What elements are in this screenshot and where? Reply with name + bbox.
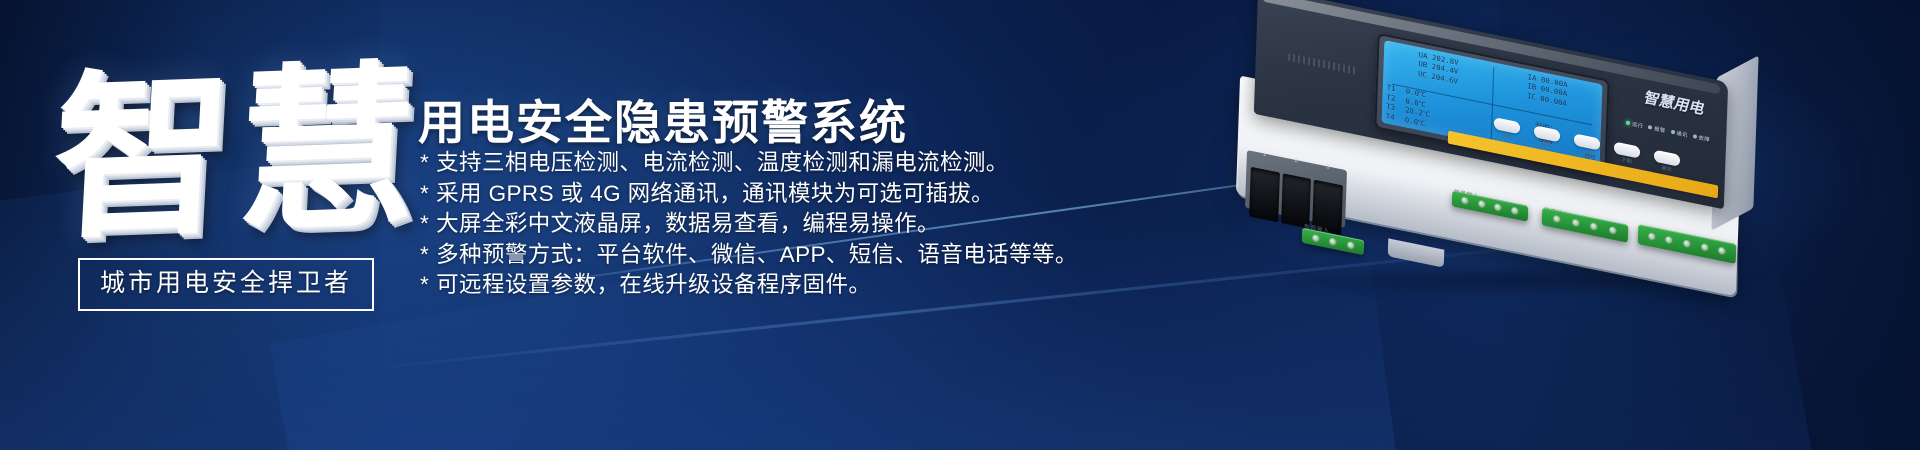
terminal-screw-icon <box>1511 206 1519 216</box>
terminal-label-signal-a: 信号输入 <box>1454 187 1480 200</box>
list-item-text: 多种预警方式：平台软件、微信、APP、短信、语音电话等等。 <box>436 242 1078 267</box>
list-item: *可远程设置参数，在线升级设备程序固件。 <box>420 270 1120 301</box>
lcd-signal-indicator: 信号 <box>1585 153 1596 165</box>
green-terminal-signal-b[interactable] <box>1542 207 1629 242</box>
list-item: *大屏全彩中文液晶屏，数据易查看，编程易操作。 <box>420 209 1120 240</box>
green-terminal-signal-a[interactable] <box>1452 190 1529 221</box>
lcd-temperature-label: T4 <box>1386 111 1398 123</box>
terminal-screw-icon <box>1718 246 1726 256</box>
device-status-indicators: 运行 报警 通讯 故障 <box>1610 112 1726 150</box>
product-image: UA 202.8V UB 204.4V UC 204.6V IA 00.00A … <box>1118 8 1918 338</box>
device-front-panel <box>1236 76 1740 297</box>
device-button-up[interactable]: 上翻 <box>1574 133 1600 150</box>
lcd-current-row: IA 00.00A <box>1497 66 1598 96</box>
device-glow <box>1208 32 1868 312</box>
device-button-confirm[interactable]: 确定 <box>1654 150 1680 167</box>
lcd-voltage-value: 204.4V <box>1432 62 1459 76</box>
din-rail-clip <box>1388 238 1445 267</box>
device-top-highlight <box>1262 0 1720 95</box>
list-item: *多种预警方式：平台软件、微信、APP、短信、语音电话等等。 <box>420 240 1120 271</box>
device-button-row: 切换 复位 上翻 下翻 确定 <box>1456 101 1719 182</box>
din-rail-monitor-device: UA 202.8V UB 204.4V UC 204.6V IA 00.00A … <box>1118 8 1918 338</box>
promo-banner: 智慧 城市用电安全捍卫者 用电安全隐患预警系统 *支持三相电压检测、电流检测、温… <box>0 0 1920 450</box>
terminal-pin <box>1312 180 1342 235</box>
feature-list: *支持三相电压检测、电流检测、温度检测和漏电流检测。 *采用 GPRS 或 4G… <box>420 148 1120 301</box>
terminal-screw-icon <box>1494 203 1502 213</box>
lcd-temperature-row: T3 28.2℃ <box>1386 102 1487 132</box>
terminal-label-comm: 通讯接口 <box>1640 223 1666 236</box>
background-right-shade <box>1500 0 1920 450</box>
lcd-current-label: IC <box>1527 91 1536 102</box>
device-brand-label: 智慧用电 <box>1629 83 1716 130</box>
lcd-leakage-panel: 漏电： 0mA 信号 <box>1491 101 1602 166</box>
black-terminal-numbers: 1 2 3 <box>1250 149 1343 184</box>
lcd-temperature-row: T2 0.0℃ <box>1386 92 1487 122</box>
green-terminal-comm[interactable] <box>1638 224 1737 264</box>
terminal-screw-icon <box>1590 222 1598 232</box>
lcd-voltage-panel: UA 202.8V UB 204.4V UC 204.6V <box>1383 40 1493 101</box>
terminal-screw-icon <box>1700 243 1708 253</box>
lcd-voltage-label: UA <box>1419 50 1428 61</box>
device-drop-shadow <box>1268 266 1738 296</box>
tagline-box: 城市用电安全捍卫者 <box>78 258 374 311</box>
lcd-voltage-value: 204.6V <box>1431 72 1458 86</box>
lcd-current-value: 00.00A <box>1541 75 1568 89</box>
bullet-marker-icon: * <box>420 242 429 267</box>
lcd-current-label: IB <box>1527 82 1536 93</box>
bullet-marker-icon: * <box>420 150 429 175</box>
terminal-number: 3 <box>1313 162 1342 184</box>
lcd-temperature-row: T1 0.0℃ <box>1387 83 1488 113</box>
calligraphy-logo: 智慧 <box>58 22 418 284</box>
lcd-temperature-panel: T1 0.0℃ T2 0.0℃ T3 28.2℃ T4 0.0℃ <box>1382 79 1493 144</box>
lcd-leakage-value: 0mA <box>1539 135 1553 147</box>
terminal-screw-icon <box>1571 218 1579 228</box>
device-dark-top-panel <box>1254 0 1728 209</box>
terminal-screw-icon <box>1461 196 1469 206</box>
terminal-screw-icon <box>1346 240 1354 250</box>
terminal-label-power: 电源输入 <box>1304 222 1367 250</box>
green-terminal-power[interactable] <box>1302 228 1365 256</box>
terminal-pin <box>1249 167 1279 222</box>
list-item: *采用 GPRS 或 4G 网络通讯，通讯模块为可选可插拔。 <box>420 179 1120 210</box>
terminal-label-signal-b: 测温输入 <box>1544 205 1570 218</box>
terminal-screw-icon <box>1311 233 1319 243</box>
terminal-screw-icon <box>1553 214 1561 224</box>
lcd-divider-vertical <box>1491 67 1495 140</box>
list-item-text: 大屏全彩中文液晶屏，数据易查看，编程易操作。 <box>436 211 940 236</box>
lcd-voltage-row: UC 204.6V <box>1387 63 1488 93</box>
list-item-text: 可远程设置参数，在线升级设备程序固件。 <box>436 272 871 297</box>
terminal-screw-icon <box>1609 226 1617 236</box>
status-indicator-comm: 通讯 <box>1670 128 1687 138</box>
status-indicator-fault: 故障 <box>1693 133 1710 143</box>
terminal-number: 2 <box>1281 155 1310 177</box>
status-indicator-alarm: 报警 <box>1648 124 1665 134</box>
lcd-voltage-row: UB 204.4V <box>1388 53 1489 83</box>
list-item-text: 采用 GPRS 或 4G 网络通讯，通讯模块为可选可插拔。 <box>436 181 994 206</box>
terminal-screw-icon <box>1683 239 1691 249</box>
black-terminal-block <box>1249 167 1343 235</box>
bullet-marker-icon: * <box>420 211 429 236</box>
terminal-screw-icon <box>1648 232 1656 242</box>
lcd-temperature-label: T2 <box>1386 92 1398 104</box>
lcd-divider-horizontal <box>1392 83 1593 125</box>
lcd-readout-grid: UA 202.8V UB 204.4V UC 204.6V IA 00.00A … <box>1382 40 1603 167</box>
terminal-screw-icon <box>1329 237 1337 247</box>
lcd-current-value: 00.00A <box>1540 94 1567 108</box>
lcd-current-label: IA <box>1528 72 1537 83</box>
led-icon <box>1626 120 1630 125</box>
terminal-screw-icon <box>1477 200 1485 210</box>
lcd-voltage-value: 202.8V <box>1432 53 1459 67</box>
lcd-bezel <box>1374 33 1609 176</box>
lcd-current-row: IC 00.00A <box>1496 85 1597 115</box>
lcd-current-panel: IA 00.00A IB 00.00A IC 00.00A <box>1492 62 1602 123</box>
status-indicator-run: 运行 <box>1626 119 1643 129</box>
terminal-number: 1 <box>1250 149 1279 171</box>
black-terminal-housing <box>1245 150 1347 228</box>
lcd-voltage-row: UA 202.8V <box>1388 44 1489 74</box>
led-icon <box>1693 134 1697 139</box>
tagline-text: 城市用电安全捍卫者 <box>100 269 352 297</box>
lcd-leakage-label: 漏电： <box>1535 121 1557 135</box>
device-front-panel-shading <box>1237 145 1739 298</box>
device-button-reset[interactable]: 复位 <box>1534 125 1560 142</box>
device-vent-slots <box>1288 53 1358 75</box>
lcd-voltage-label: UC <box>1418 69 1427 80</box>
terminal-screw-icon <box>1665 236 1673 246</box>
list-item: *支持三相电压检测、电流检测、温度检测和漏电流检测。 <box>420 148 1120 179</box>
lcd-temperature-value: 0.0℃ <box>1406 87 1427 101</box>
bullet-marker-icon: * <box>420 272 429 297</box>
led-icon <box>1648 125 1652 130</box>
lcd-temperature-label: T1 <box>1387 83 1399 95</box>
calligraphy-text: 智慧 <box>49 58 427 249</box>
lcd-screen: UA 202.8V UB 204.4V UC 204.6V IA 00.00A … <box>1382 40 1603 167</box>
terminal-pin <box>1281 173 1311 228</box>
lcd-voltage-label: UB <box>1418 59 1427 70</box>
device-button-down[interactable]: 下翻 <box>1614 142 1640 159</box>
lcd-temperature-value: 0.0℃ <box>1405 96 1426 110</box>
lcd-temperature-value: 28.2℃ <box>1405 106 1430 120</box>
lcd-current-row: IB 00.00A <box>1497 75 1598 105</box>
background-left-shade <box>0 0 380 450</box>
bullet-marker-icon: * <box>420 181 429 206</box>
led-icon <box>1670 129 1674 134</box>
lcd-temperature-row: T4 0.0℃ <box>1386 111 1487 141</box>
device-yellow-label-strip <box>1448 131 1718 199</box>
lcd-temperature-value: 0.0℃ <box>1405 115 1426 129</box>
device-side-panel <box>1711 55 1758 230</box>
lcd-temperature-label: T3 <box>1386 102 1398 114</box>
lcd-current-value: 00.00A <box>1541 84 1568 98</box>
page-title: 用电安全隐患预警系统 <box>418 84 908 153</box>
list-item-text: 支持三相电压检测、电流检测、温度检测和漏电流检测。 <box>436 150 1009 175</box>
device-button-switch[interactable]: 切换 <box>1494 117 1520 134</box>
